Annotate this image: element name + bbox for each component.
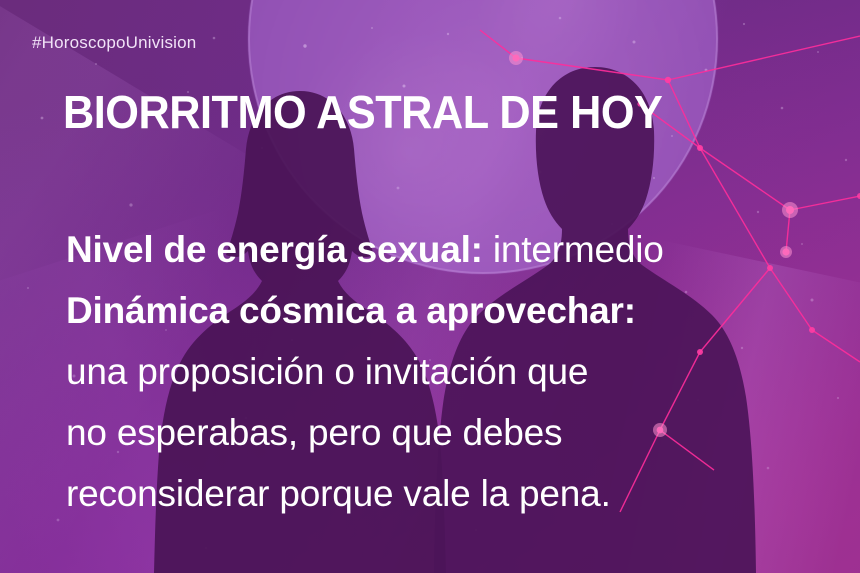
text-content: #HoroscopoUnivision BIORRITMO ASTRAL DE … xyxy=(0,0,860,573)
body-line-5: reconsiderar porque vale la pena. xyxy=(66,463,856,524)
body-line-2: Dinámica cósmica a aprovechar: xyxy=(66,280,856,341)
hashtag-label: #HoroscopoUnivision xyxy=(32,33,196,53)
horoscope-body: Nivel de energía sexual: intermedio Diná… xyxy=(66,219,856,524)
body-line-4: no esperabas, pero que debes xyxy=(66,402,856,463)
page-title: BIORRITMO ASTRAL DE HOY xyxy=(63,86,662,138)
body-line-3: una proposición o invitación que xyxy=(66,341,856,402)
body-line-1: Nivel de energía sexual: intermedio xyxy=(66,219,856,280)
energy-level-value: intermedio xyxy=(483,229,664,270)
cosmic-dynamic-label: Dinámica cósmica a aprovechar: xyxy=(66,290,636,331)
horoscope-card: #HoroscopoUnivision BIORRITMO ASTRAL DE … xyxy=(0,0,860,573)
energy-level-label: Nivel de energía sexual: xyxy=(66,229,483,270)
